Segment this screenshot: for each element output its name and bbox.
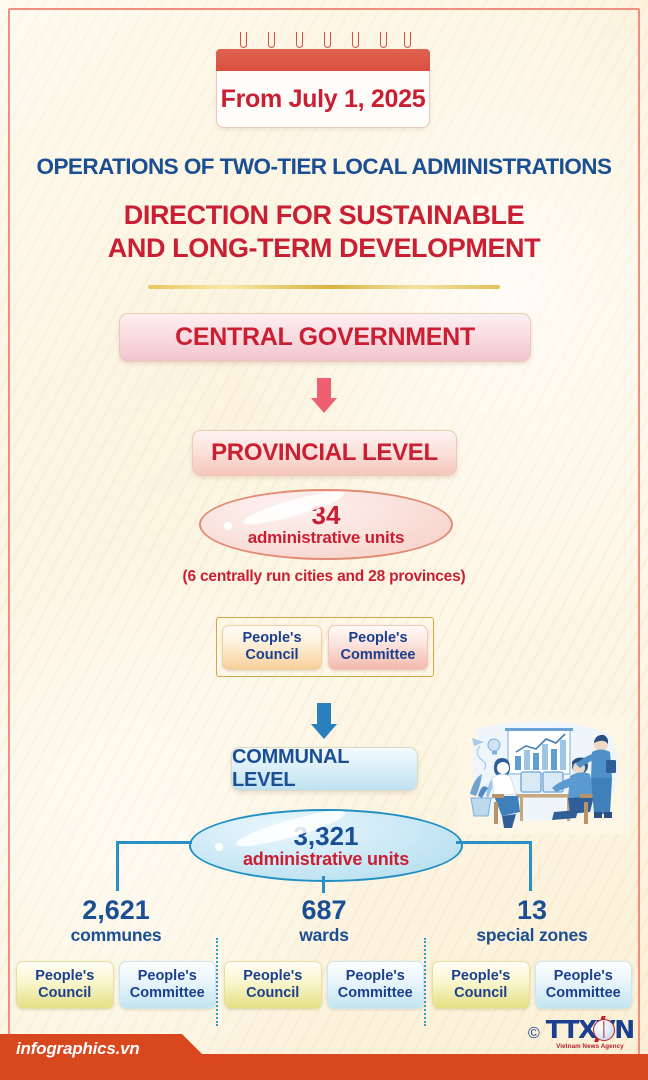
provincial-units-ellipse: 34 administrative units: [199, 489, 453, 560]
provincial-bodies-group: People's Council People's Committee: [216, 617, 434, 677]
headline-main-line-2: AND LONG-TERM DEVELOPMENT: [0, 232, 648, 265]
provincial-unit-label: administrative units: [248, 528, 405, 547]
logo-wordmark: TTXVN: [546, 1017, 634, 1042]
date-badge-text: From July 1, 2025: [221, 85, 426, 114]
wards-group: 687 wards: [224, 895, 424, 946]
body-line-2: Council: [246, 985, 299, 1002]
copyright-icon: ©: [528, 1025, 540, 1043]
agency-logo: © TTXVN Vietnam News Agency: [528, 1017, 634, 1050]
communes-count: 2,621: [16, 895, 216, 925]
communes-peoples-council-box: People's Council: [16, 961, 114, 1009]
communes-group: 2,621 communes: [16, 895, 216, 946]
calendar-ring-icon: [268, 32, 275, 48]
provincial-level-label: PROVINCIAL LEVEL: [211, 439, 438, 467]
communes-peoples-committee-box: People's Committee: [119, 961, 217, 1009]
source-label: infographics.vn: [0, 1039, 140, 1059]
body-line-1: People's: [242, 630, 301, 647]
calendar-ring-icon: [296, 32, 303, 48]
provincial-peoples-committee-box: People's Committee: [328, 625, 428, 670]
headline-main: DIRECTION FOR SUSTAINABLE AND LONG-TERM …: [0, 199, 648, 265]
connector-vertical-right: [529, 841, 532, 891]
provincial-peoples-council-box: People's Council: [222, 625, 322, 670]
connector-horizontal-left: [116, 841, 192, 844]
calendar-ring-icon: [240, 32, 247, 48]
communal-level-label: COMMUNAL LEVEL: [232, 746, 417, 792]
infographic-poster: From July 1, 2025 OPERATIONS OF TWO-TIER…: [0, 0, 648, 1080]
special-zones-count: 13: [432, 895, 632, 925]
headline-main-line-1: DIRECTION FOR SUSTAINABLE: [0, 199, 648, 232]
body-line-2: Council: [245, 647, 298, 664]
communes-bodies-group: People's Council People's Committee: [16, 961, 216, 1009]
provincial-unit-count: 34: [312, 503, 341, 528]
body-line-2: Council: [38, 985, 91, 1002]
body-line-2: Committee: [546, 985, 621, 1002]
body-line-2: Committee: [341, 647, 416, 664]
source-tab: infographics.vn: [0, 1034, 212, 1064]
logo-globe-icon: [593, 1019, 615, 1041]
body-line-2: Committee: [338, 985, 413, 1002]
communal-units-ellipse: 3,321 administrative units: [189, 809, 463, 882]
connector-vertical-center: [322, 876, 325, 893]
body-line-1: People's: [348, 630, 407, 647]
calendar-rings: [216, 38, 430, 49]
wards-label: wards: [224, 925, 424, 946]
calendar-ring-icon: [404, 32, 411, 48]
special-zones-peoples-council-box: People's Council: [432, 961, 530, 1009]
wards-count: 687: [224, 895, 424, 925]
date-calendar-card: From July 1, 2025: [216, 38, 430, 128]
communal-unit-count: 3,321: [293, 823, 358, 849]
central-government-label: CENTRAL GOVERNMENT: [175, 323, 475, 352]
communal-unit-label: administrative units: [243, 849, 409, 869]
headline-subtitle: OPERATIONS OF TWO-TIER LOCAL ADMINISTRAT…: [0, 154, 648, 180]
column-divider-1: [216, 938, 218, 1026]
body-line-2: Committee: [130, 985, 205, 1002]
connector-vertical-left: [116, 841, 119, 891]
body-line-1: People's: [451, 968, 510, 985]
connector-horizontal-right: [456, 841, 532, 844]
calendar-ring-icon: [352, 32, 359, 48]
communes-label: communes: [16, 925, 216, 946]
meeting-presentation-illustration: [458, 716, 630, 834]
special-zones-group: 13 special zones: [432, 895, 632, 946]
calendar-ring-icon: [380, 32, 387, 48]
central-government-box: CENTRAL GOVERNMENT: [119, 313, 531, 362]
body-line-1: People's: [243, 968, 302, 985]
calendar-ring-icon: [324, 32, 331, 48]
wards-peoples-committee-box: People's Committee: [327, 961, 425, 1009]
body-line-1: People's: [138, 968, 197, 985]
communal-level-box: COMMUNAL LEVEL: [231, 747, 418, 791]
arrow-down-red-icon: [311, 378, 337, 413]
special-zones-peoples-committee-box: People's Committee: [535, 961, 633, 1009]
wards-peoples-council-box: People's Council: [224, 961, 322, 1009]
special-zones-bodies-group: People's Council People's Committee: [432, 961, 632, 1009]
body-line-1: People's: [554, 968, 613, 985]
body-line-1: People's: [35, 968, 94, 985]
arrow-down-blue-icon: [311, 703, 337, 739]
wards-bodies-group: People's Council People's Committee: [224, 961, 424, 1009]
ellipse-dot: [224, 522, 232, 530]
body-line-1: People's: [346, 968, 405, 985]
calendar-body: From July 1, 2025: [216, 71, 430, 128]
ellipse-dot: [215, 843, 223, 851]
gold-divider: [148, 285, 500, 289]
provincial-level-box: PROVINCIAL LEVEL: [192, 430, 457, 476]
special-zones-label: special zones: [432, 925, 632, 946]
calendar-top-bar: [216, 49, 430, 71]
column-divider-2: [424, 938, 426, 1026]
body-line-2: Council: [454, 985, 507, 1002]
logo-subtitle: Vietnam News Agency: [556, 1043, 624, 1050]
provincial-breakdown-note: (6 centrally run cities and 28 provinces…: [0, 568, 648, 586]
